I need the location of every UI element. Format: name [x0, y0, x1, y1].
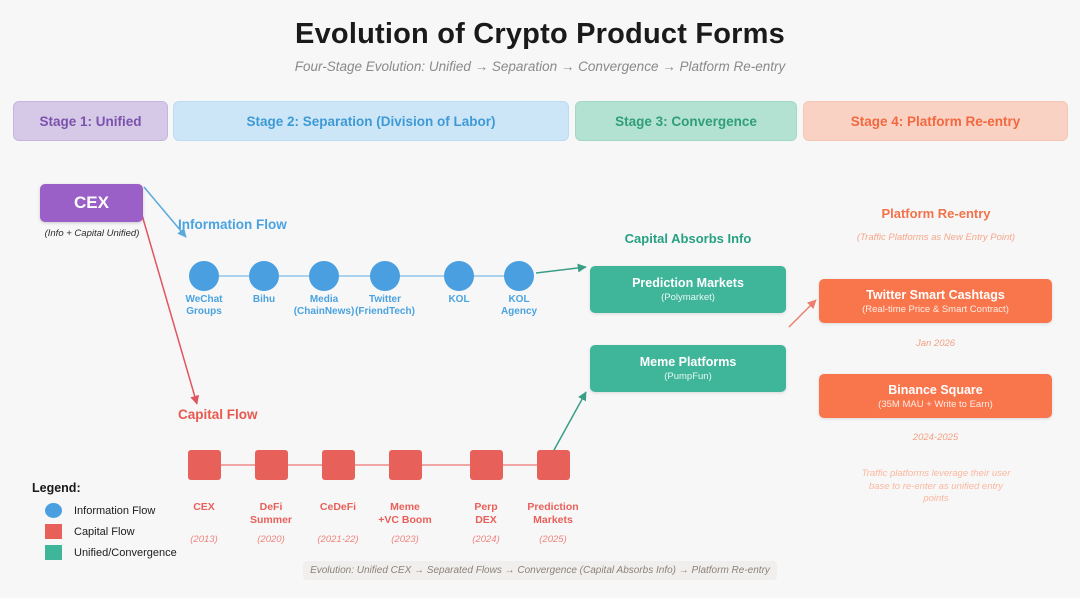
capital-node-cex[interactable]	[188, 450, 221, 480]
reentry-box-binance-square[interactable]: Binance Square (35M MAU + Write to Earn)	[819, 374, 1052, 418]
page-title: Evolution of Crypto Product Forms	[0, 18, 1080, 51]
capital-label-line1: Meme	[360, 501, 450, 514]
stage-bar-1[interactable]: Stage 1: Unified	[13, 101, 168, 141]
capital-node-year-prediction-markets: (2025)	[508, 534, 598, 545]
capital-node-defi-summer[interactable]	[255, 450, 288, 480]
legend-circle-icon	[45, 503, 62, 518]
info-label-line2: Agency	[474, 306, 564, 318]
convergence-box-prediction-markets[interactable]: Prediction Markets (Polymarket)	[590, 266, 786, 313]
legend-item-information-flow: Information Flow	[32, 501, 177, 520]
reentry-box-subtitle: (35M MAU + Write to Earn)	[878, 399, 993, 410]
info-node-kol[interactable]	[444, 261, 474, 291]
reentry-box-subtitle: (Real-time Price & Smart Contract)	[862, 304, 1009, 315]
convergence-header: Capital Absorbs Info	[590, 231, 786, 246]
stage-bar-2[interactable]: Stage 2: Separation (Division of Labor)	[173, 101, 569, 141]
convergence-box-meme-platforms[interactable]: Meme Platforms (PumpFun)	[590, 345, 786, 392]
diagram-canvas: Evolution of Crypto Product Forms Four-S…	[0, 0, 1080, 598]
arrow-info-to-convergence	[536, 267, 586, 273]
capital-node-cedefi[interactable]	[322, 450, 355, 480]
footer-caption: Evolution: Unified CEX → Separated Flows…	[303, 561, 777, 580]
stage-bar-3[interactable]: Stage 3: Convergence	[575, 101, 797, 141]
reentry-box-title: Binance Square	[888, 383, 982, 397]
info-node-twitter[interactable]	[370, 261, 400, 291]
information-flow-label: Information Flow	[178, 217, 287, 232]
legend-square-icon	[45, 524, 62, 539]
info-label-line2: Groups	[159, 306, 249, 318]
info-node-kol-agency[interactable]	[504, 261, 534, 291]
cex-node[interactable]: CEX	[40, 184, 143, 222]
legend-item-capital-flow: Capital Flow	[32, 522, 177, 541]
capital-node-label-meme-vc-boom: Meme +VC Boom	[360, 501, 450, 526]
legend: Legend: Information Flow Capital Flow Un…	[32, 481, 177, 564]
capital-node-prediction-markets[interactable]	[537, 450, 570, 480]
info-node-wechat-groups[interactable]	[189, 261, 219, 291]
legend-item-label: Capital Flow	[74, 526, 135, 538]
capital-label-line1: Prediction	[508, 501, 598, 514]
legend-item-label: Unified/Convergence	[74, 547, 177, 559]
convergence-box-subtitle: (Polymarket)	[661, 292, 715, 303]
capital-label-line2: +VC Boom	[360, 514, 450, 527]
legend-item-unified-convergence: Unified/Convergence	[32, 543, 177, 562]
legend-title: Legend:	[32, 481, 177, 495]
convergence-box-subtitle: (PumpFun)	[664, 371, 712, 382]
legend-square-icon	[45, 545, 62, 560]
capital-node-perp-dex[interactable]	[470, 450, 503, 480]
convergence-box-title: Prediction Markets	[632, 276, 744, 290]
reentry-note: Traffic platforms leverage their user ba…	[855, 468, 1017, 506]
info-node-label-kol-agency: KOL Agency	[474, 294, 564, 317]
reentry-box-title: Twitter Smart Cashtags	[866, 288, 1005, 302]
reentry-date-binance: 2024-2025	[819, 432, 1052, 443]
info-node-bihu[interactable]	[249, 261, 279, 291]
info-label-line2: (FriendTech)	[340, 306, 430, 318]
convergence-box-title: Meme Platforms	[640, 355, 737, 369]
page-subtitle: Four-Stage Evolution: Unified → Separati…	[0, 59, 1080, 74]
reentry-header: Platform Re-entry	[820, 206, 1052, 221]
stage-bar-4[interactable]: Stage 4: Platform Re-entry	[803, 101, 1068, 141]
capital-flow-label: Capital Flow	[178, 407, 258, 422]
capital-label-line2: Markets	[508, 514, 598, 527]
legend-item-label: Information Flow	[74, 505, 155, 517]
reentry-subtitle: (Traffic Platforms as New Entry Point)	[810, 232, 1062, 243]
reentry-date-twitter: Jan 2026	[819, 338, 1052, 349]
cex-note: (Info + Capital Unified)	[22, 228, 162, 239]
arrow-convergence-to-reentry	[789, 300, 816, 327]
reentry-box-twitter-smart-cashtags[interactable]: Twitter Smart Cashtags (Real-time Price …	[819, 279, 1052, 323]
info-label-line1: KOL	[474, 294, 564, 306]
capital-node-year-meme-vc-boom: (2023)	[360, 534, 450, 545]
info-node-media[interactable]	[309, 261, 339, 291]
capital-node-meme-vc-boom[interactable]	[389, 450, 422, 480]
capital-node-label-prediction-markets: Prediction Markets	[508, 501, 598, 526]
capital-label-line2: Summer	[226, 514, 316, 527]
